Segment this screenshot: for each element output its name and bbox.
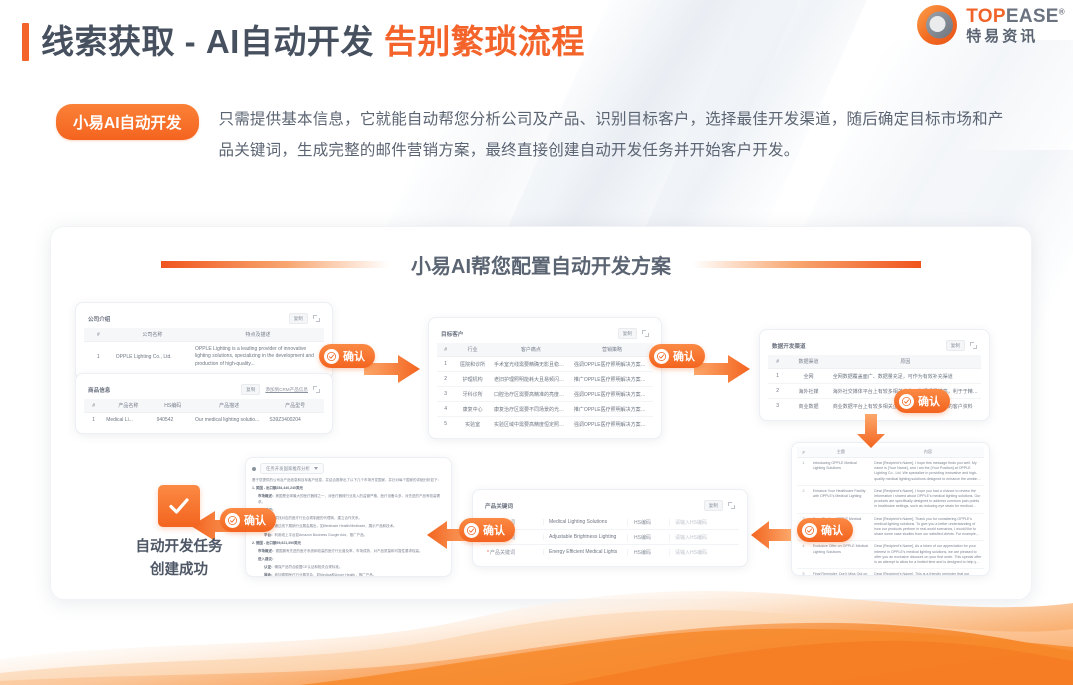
card-target-customers: 目标客户 复制 # 行业 客户痛点 营销策略 1 医院和诊所 手术室光线需要精确…: [428, 317, 662, 439]
table-row: 3 牙科诊所 口腔治疗区需要高精准的亮度控制照明... 强调OPPLE医疗照明解…: [437, 387, 653, 402]
cell-product-model: S39Z3400204: [266, 413, 324, 427]
slide-page: 线索获取 - AI自动开发告别繁琐流程: [0, 0, 1073, 685]
confirm-button-keywords[interactable]: 确认: [459, 518, 515, 542]
col-reason: 原因: [830, 355, 981, 369]
col-company-name: 公司名称: [113, 328, 192, 342]
table-header-row: # 行业 客户痛点 营销策略: [437, 343, 653, 357]
chevron-down-icon: [314, 467, 318, 470]
cell-reason: 全网数据覆盖面广、数据量充足，可作为有效补充渠道: [830, 369, 981, 384]
table-row: 1 OPPLE Lighting Co., Ltd. OPPLE Lightin…: [84, 342, 324, 372]
success-check-icon: [158, 485, 200, 527]
hs-code-input[interactable]: 请输入HS编码: [669, 534, 739, 541]
task-success-block: 自动开发任务 创建成功: [115, 485, 243, 582]
card-data-channels: 数据开发渠道 复制 # 数据渠道 原因 1 全网 全网数据覆盖面广、数据量充足，…: [759, 329, 990, 421]
cell-product-desc: Our medical lighting solutio...: [192, 413, 266, 427]
cell-index: 5: [437, 417, 454, 432]
col-strategy: 营销策略: [571, 343, 653, 357]
keyword-row: *产品关键词 Medical Lighting Solutions HS编码 请…: [481, 515, 739, 530]
cell-industry: 实验室: [454, 417, 491, 432]
title-accent-text: 告别繁琐流程: [384, 23, 585, 60]
check-icon: [225, 513, 240, 528]
report-body: 基于您提供的公司及产品信息和目标客户信息，并结合推荐出了以下几个市场开发国家，并…: [252, 478, 445, 577]
customers-table: # 行业 客户痛点 营销策略 1 医院和诊所 手术室光线需要精确无影且稳定...…: [437, 343, 653, 431]
table-row: 1 Introducing OPPLE Medical Lighting Sol…: [797, 458, 984, 486]
cell-company-name: OPPLE Lighting Co., Ltd.: [113, 342, 192, 372]
card-market-report: 任务开发国家推荐分析 基于您提供的公司及产品信息和目标客户信息，并结合推荐出了以…: [245, 457, 452, 577]
col-channel: 数据渠道: [787, 355, 830, 369]
cell-index: 2: [797, 485, 810, 513]
card-product-info: 商品信息 复制 添加到CRM产品信息 # 产品名称 HS编码 产品描述 产品型号…: [75, 373, 333, 434]
cell-strategy: 强调OPPLE医疗照明解决方案的可...: [571, 357, 653, 372]
page-title: 线索获取 - AI自动开发告别繁琐流程: [22, 22, 585, 62]
page-header: 线索获取 - AI自动开发告别繁琐流程: [0, 0, 1073, 92]
table-row: 1 医院和诊所 手术室光线需要精确无影且稳定... 强调OPPLE医疗照明解决方…: [437, 357, 653, 372]
cell-industry: 康复中心: [454, 402, 491, 417]
cell-industry: 牙科诊所: [454, 387, 491, 402]
success-line-2: 创建成功: [115, 559, 243, 582]
copy-button[interactable]: 复制: [704, 500, 723, 511]
cell-index: 2: [768, 384, 787, 399]
check-icon: [324, 349, 339, 364]
logo-registered-mark: ®: [1059, 7, 1065, 16]
cell-index: 4: [797, 541, 810, 569]
col-content: 内容: [872, 447, 984, 458]
hs-code-label: HS编码: [627, 534, 669, 541]
confirm-label: 确认: [343, 348, 365, 364]
confirm-label: 确认: [483, 522, 505, 538]
cell-industry: 医院和诊所: [454, 357, 491, 372]
expand-icon[interactable]: [970, 342, 977, 349]
cell-strategy: 推广OPPLE医疗照明解决方案的节能...: [571, 372, 653, 387]
table-row: 5 Final Reminder: Don't Miss Out on Our …: [797, 569, 984, 576]
col-subject: 主题: [810, 447, 872, 458]
copy-button[interactable]: 复制: [289, 313, 308, 324]
keyword-input[interactable]: Adjustable Brightness Lighting: [543, 534, 627, 540]
flow-panel: 小易AI帮您配置自动开发方案 公司介绍 复制 # 公司名称 特点及描述 1: [50, 226, 1032, 600]
table-header-row: # 主题 内容: [797, 447, 984, 458]
heading-rule-right: [693, 261, 921, 268]
report-item-heading: 1. 美国 - 出口额284,440,240美元: [252, 486, 445, 492]
col-hs-code: HS编码: [154, 399, 192, 413]
logo-ease-word: EASE: [1006, 6, 1059, 27]
cell-content: Dear [Recipient's Name], This is a frien…: [874, 572, 981, 576]
table-row: 2 护理机构 老旧护理照明能耗大且易频闪，但my... 推广OPPLE医疗照明解…: [437, 372, 653, 387]
copy-button[interactable]: 复制: [618, 328, 637, 339]
expand-icon[interactable]: [313, 386, 320, 393]
country-select[interactable]: 任务开发国家推荐分析: [260, 463, 324, 474]
table-header-row: # 数据渠道 原因: [768, 355, 981, 369]
table-row: 1 全网 全网数据覆盖面广、数据量充足，可作为有效补充渠道: [768, 369, 981, 384]
table-row: 4 Exclusive Offer on OPPLE Medical Light…: [797, 541, 984, 569]
cell-strategy: 推广OPPLE医疗照明解决方案的多...: [571, 402, 653, 417]
expand-icon[interactable]: [313, 315, 320, 322]
topease-logo-icon: [915, 3, 959, 47]
cell-content: Dear [Recipient's Name], As a token of o…: [874, 544, 981, 565]
flow-arrow-left-1: [751, 521, 791, 549]
cell-index: 2: [437, 372, 454, 387]
card-customers-title: 目标客户: [441, 330, 463, 338]
table-header-row: # 产品名称 HS编码 产品描述 产品型号: [84, 399, 324, 413]
report-line: 认证：确保产品符合欧盟CE认证和相关合规标准。: [252, 565, 445, 571]
heading-rule-left: [161, 261, 389, 268]
col-product-desc: 产品描述: [192, 399, 266, 413]
copy-button[interactable]: 复制: [946, 340, 965, 351]
add-to-crm-link[interactable]: 添加到CRM产品信息: [265, 387, 308, 393]
card-company-intro: 公司介绍 复制 # 公司名称 特点及描述 1 OPPLE Lighting Co…: [75, 302, 333, 380]
cell-index: 1: [84, 413, 103, 427]
cell-index: 3: [437, 387, 454, 402]
confirm-label: 确认: [821, 522, 843, 538]
hs-code-label: HS编码: [627, 519, 669, 526]
check-icon: [464, 523, 479, 538]
report-line: 平台：利用线上平台如Amazon Business Google Ads，推广产…: [252, 533, 445, 539]
intro-description: 只需提供基本信息，它就能自动帮您分析公司及产品、识别目标客户，选择最佳开发渠道，…: [219, 104, 1009, 166]
confirm-button-report[interactable]: 确认: [220, 508, 276, 532]
cell-index: 1: [768, 369, 787, 384]
cell-content: Dear [Recipient's Name], I hope you had …: [874, 489, 981, 510]
col-pain-point: 客户痛点: [491, 343, 571, 357]
report-line: 展会：参加德国医疗行业展览会，如Medica和Unser Health，推广产品…: [252, 573, 445, 577]
cell-index: 1: [84, 342, 113, 372]
cell-index: 4: [437, 402, 454, 417]
col-product-name: 产品名称: [103, 399, 153, 413]
confirm-button-emails[interactable]: 确认: [797, 518, 853, 542]
logo-top-word: TOP: [966, 6, 1006, 27]
hs-code-input[interactable]: 请输入HS编码: [669, 549, 739, 556]
table-row: 4 康复中心 康复治疗区需要不同场景的光线调... 推广OPPLE医疗照明解决方…: [437, 402, 653, 417]
cell-index: 5: [797, 569, 810, 576]
expand-icon[interactable]: [728, 502, 735, 509]
card-channels-title: 数据开发渠道: [772, 342, 806, 350]
cell-industry: 护理机构: [454, 372, 491, 387]
hs-code-label: HS编码: [627, 549, 669, 556]
flow-arrow-down: [857, 414, 885, 448]
cell-pain-point: 实验区域中需要高精度恒定照明，低...: [491, 417, 571, 432]
col-index: #: [768, 355, 787, 369]
title-main-text: 线索获取 - AI自动开发: [41, 23, 374, 60]
table-header-row: # 公司名称 特点及描述: [84, 328, 324, 342]
col-index: #: [437, 343, 454, 357]
cell-subject: Enhance Your Healthcare Facility with OP…: [813, 489, 870, 499]
cell-subject: Final Reminder: Don't Miss Out on Our Ex…: [813, 572, 870, 576]
check-icon: [654, 349, 669, 364]
col-product-model: 产品型号: [266, 399, 324, 413]
col-industry: 行业: [454, 343, 491, 357]
col-company-desc: 特点及描述: [192, 328, 324, 342]
expand-icon[interactable]: [642, 330, 649, 337]
cell-index: 1: [797, 458, 810, 486]
confirm-button-channels[interactable]: 确认: [894, 389, 950, 413]
table-row: 1 Medical Li... 940542 Our medical light…: [84, 413, 324, 427]
cell-pain-point: 老旧护理照明能耗大且易频闪，但my...: [491, 372, 571, 387]
report-line: 选入建议：: [252, 508, 445, 514]
report-line: 市场概述：德国拥有先进的医疗系统和较高的医疗行业普及率，市场成熟，对产品质量和可…: [252, 549, 445, 555]
report-line: 市场概述：美国是全球最大的医疗器械之一，对医疗器械行业准入的监管严格，医疗设备众…: [252, 494, 445, 505]
panel-heading: 小易AI帮您配置自动开发方案: [51, 249, 1031, 279]
col-index: #: [797, 447, 810, 458]
cell-channel: 商业数据: [787, 399, 830, 414]
card-keywords-title: 产品关键词: [485, 502, 513, 510]
check-icon: [802, 523, 817, 538]
cell-strategy: 强调OPPLE医疗照明解决方案的高...: [571, 387, 653, 402]
cell-index: 3: [768, 399, 787, 414]
report-line: 进入建议：: [252, 557, 445, 563]
cell-company-desc: OPPLE Lighting is a leading provider of …: [192, 342, 324, 372]
cell-product-name: Medical Li...: [103, 413, 153, 427]
cell-subject: Introducing OPPLE Medical Lighting Solut…: [813, 461, 870, 471]
confirm-button-company[interactable]: 确认: [319, 344, 375, 368]
cell-pain-point: 手术室光线需要精确无影且稳定...: [491, 357, 571, 372]
table-row: 2 Enhance Your Healthcare Facility with …: [797, 485, 984, 513]
cell-pain-point: 口腔治疗区需要高精准的亮度控制照明...: [491, 387, 571, 402]
keyword-input[interactable]: Medical Lighting Solutions: [543, 519, 627, 525]
report-line: 认证：寻找对应的医疗行业合规制度的代理商，建立合作关系。: [252, 516, 445, 522]
cell-channel: 全网: [787, 369, 830, 384]
logo-subtitle: 特易资讯: [966, 29, 1065, 44]
products-table: # 产品名称 HS编码 产品描述 产品型号 1 Medical Li... 94…: [84, 399, 324, 426]
cell-channel: 海外社媒: [787, 384, 830, 399]
intro-block: 小易AI自动开发 只需提供基本信息，它就能自动帮您分析公司及产品、识别目标客户，…: [56, 104, 1009, 166]
table-row: 5 实验室 实验区域中需要高精度恒定照明，低... 强调OPPLE医疗照明解决方…: [437, 417, 653, 432]
report-line: 渠道：通过线下展销行业展会展出，如Medtrade Health/Medtrad…: [252, 524, 445, 530]
feature-pill: 小易AI自动开发: [56, 104, 199, 140]
keyword-input[interactable]: Energy Efficient Medical Lights: [543, 549, 627, 555]
cell-subject: Exclusive Offer on OPPLE Medical Lightin…: [813, 544, 870, 554]
keyword-label: *产品关键词: [481, 549, 543, 556]
keyword-row: *产品关键词 Adjustable Brightness Lighting HS…: [481, 530, 739, 545]
col-index: #: [84, 399, 103, 413]
confirm-label: 确认: [244, 512, 266, 528]
hs-code-input[interactable]: 请输入HS编码: [669, 519, 739, 526]
copy-button[interactable]: 复制: [241, 384, 260, 395]
card-company-title: 公司介绍: [88, 315, 110, 323]
report-item-heading: 2. 德国 - 出口额99,621,390美元: [252, 541, 445, 547]
email-table: # 主题 内容 1 Introducing OPPLE Medical Ligh…: [797, 447, 984, 576]
decorative-wave: [0, 585, 1073, 685]
cell-strategy: 强调OPPLE医疗照明解决方案的高...: [571, 417, 653, 432]
cell-content: Dear [Recipient's Name], Thank you for c…: [874, 517, 981, 538]
company-table: # 公司名称 特点及描述 1 OPPLE Lighting Co., Ltd. …: [84, 328, 324, 372]
confirm-label: 确认: [673, 348, 695, 364]
confirm-button-customers[interactable]: 确认: [649, 344, 705, 368]
cell-hs-code: 940542: [154, 413, 192, 427]
keyword-row: *产品关键词 Energy Efficient Medical Lights H…: [481, 545, 739, 559]
cell-index: 1: [437, 357, 454, 372]
cell-pain-point: 康复治疗区需要不同场景的光线调...: [491, 402, 571, 417]
panel-title-text: 小易AI帮您配置自动开发方案: [411, 250, 671, 279]
card-email-plan: # 主题 内容 1 Introducing OPPLE Medical Ligh…: [791, 442, 990, 576]
card-products-title: 商品信息: [88, 386, 110, 394]
title-accent-bar: [22, 23, 29, 61]
brand-logo: TOPEASE® 特易资讯: [915, 3, 1065, 47]
bullet-icon: [252, 467, 256, 471]
col-index: #: [84, 328, 113, 342]
check-icon: [899, 394, 914, 409]
cell-content: Dear [Recipient's Name], I hope this mes…: [874, 461, 981, 482]
country-select-label: 任务开发国家推荐分析: [266, 466, 310, 472]
confirm-label: 确认: [918, 393, 940, 409]
report-intro: 基于您提供的公司及产品信息和目标客户信息，并结合推荐出了以下几个市场开发国家，并…: [252, 478, 445, 484]
success-line-1: 自动开发任务: [115, 536, 243, 559]
